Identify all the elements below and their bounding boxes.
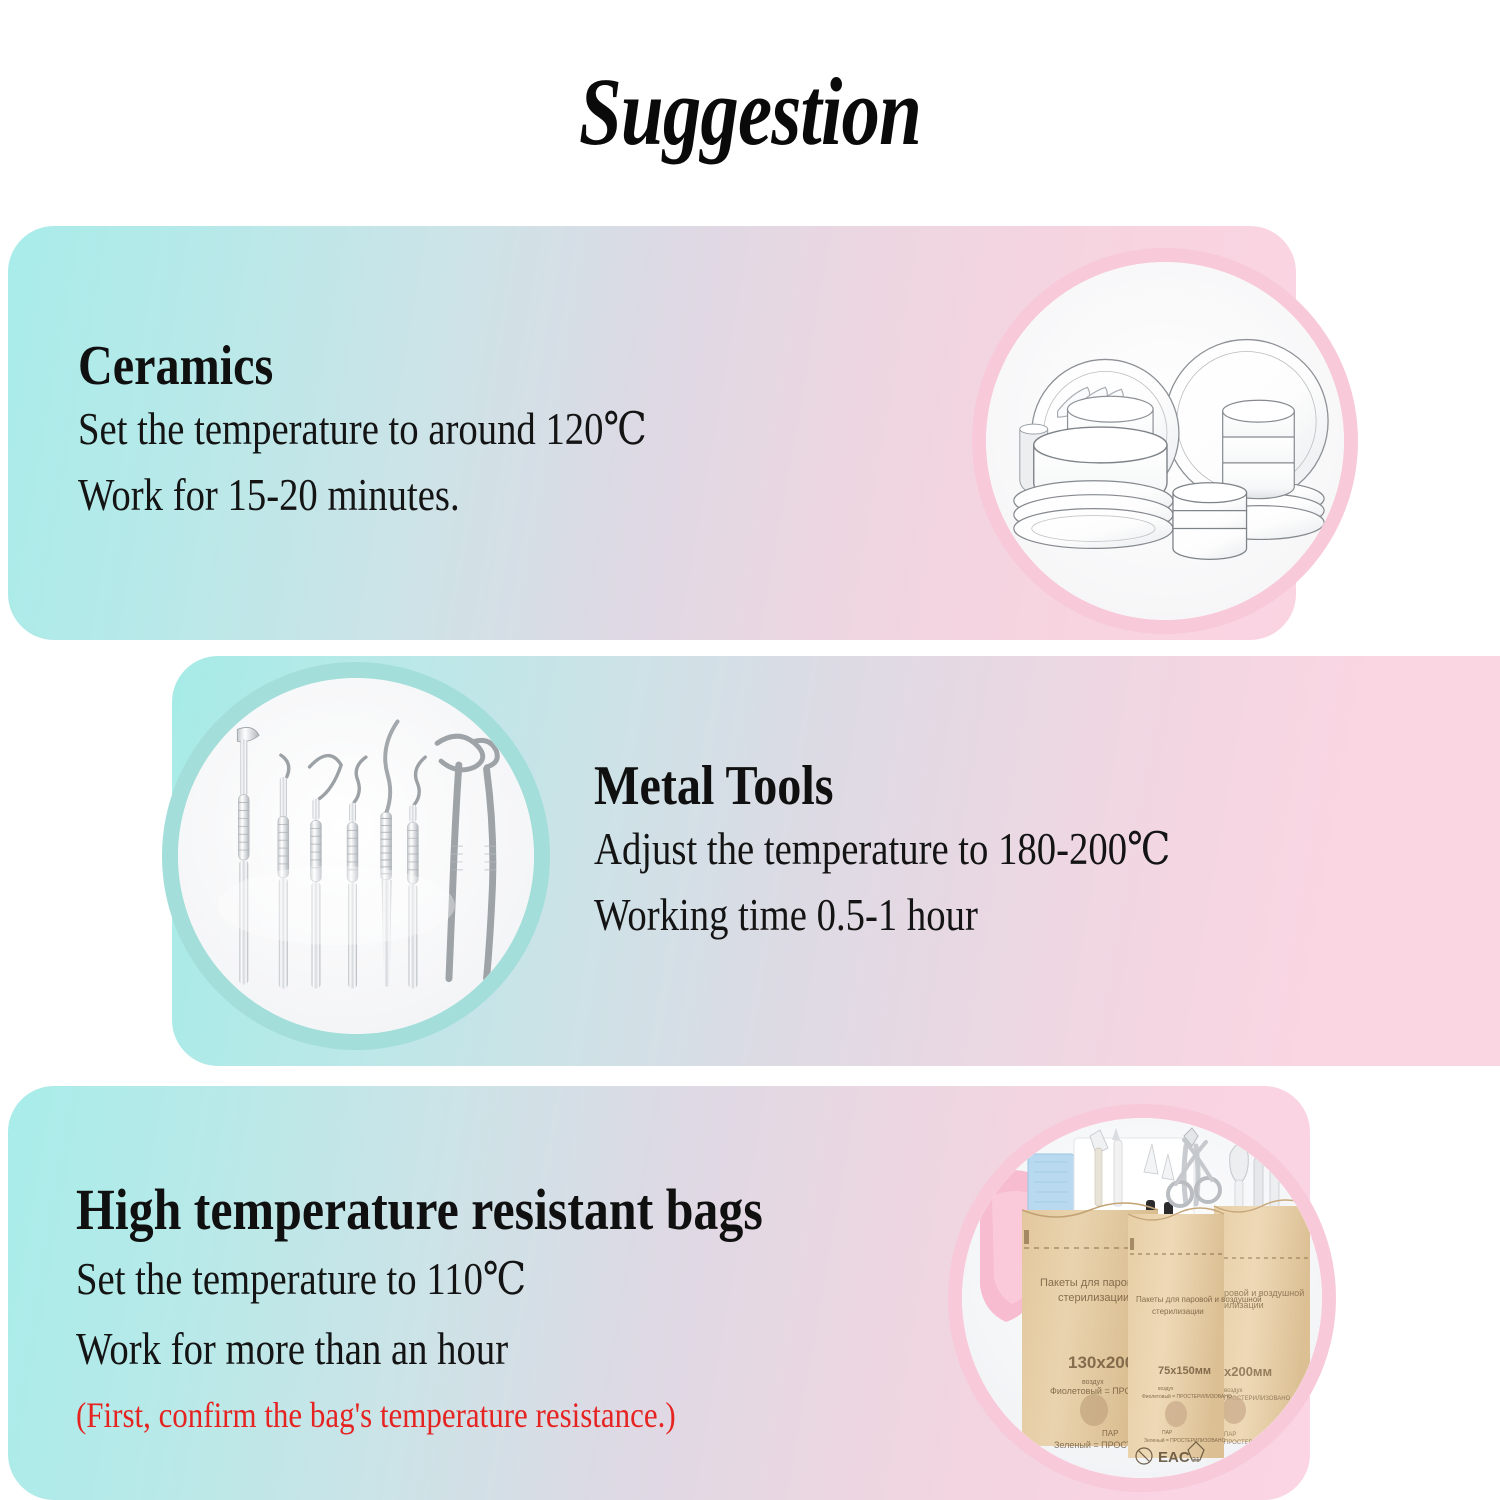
- sterilization-bags-photo: ровой и воздушной илизации х200мм воздух…: [962, 1118, 1322, 1478]
- ceramics-photo-inner: [986, 262, 1344, 620]
- ceramics-illustration-icon: [986, 262, 1344, 620]
- card-ceramics-line-2: Work for 15-20 minutes.: [78, 470, 647, 520]
- card-ceramics-text: Ceramics Set the temperature to around 1…: [78, 336, 739, 536]
- svg-text:ПАР: ПАР: [1162, 1430, 1173, 1436]
- card-high-temperature-bags-text: High temperature resistant bags Set the …: [76, 1178, 875, 1435]
- card-high-temperature-bags-line-2: Work for more than an hour: [76, 1324, 763, 1374]
- metal-dental-tools-photo: [178, 678, 534, 1034]
- page-title: Suggestion: [150, 62, 1350, 163]
- svg-text:ПАР: ПАР: [1102, 1429, 1118, 1438]
- svg-text:Зеленый = ПРОСТЕРИЛИЗОВАНО: Зеленый = ПРОСТЕРИЛИЗОВАНО: [1144, 1437, 1225, 1444]
- ceramics-dinnerware-photo: [986, 262, 1344, 620]
- card-metal-tools-heading: Metal Tools: [594, 756, 1170, 818]
- svg-text:EAC: EAC: [1158, 1449, 1190, 1466]
- svg-text:х200мм: х200мм: [1224, 1364, 1272, 1379]
- svg-text:130x200: 130x200: [1068, 1353, 1134, 1372]
- card-ceramics-line-1: Set the temperature to around 120℃: [78, 404, 647, 454]
- card-metal-tools-line-1: Adjust the temperature to 180-200℃: [594, 824, 1170, 874]
- metal-tools-photo-inner: [178, 678, 534, 1034]
- svg-text:стерилизации: стерилизации: [1058, 1292, 1129, 1304]
- svg-text:75х150мм: 75х150мм: [1158, 1365, 1211, 1377]
- sterilization-bags-illustration-icon: ровой и воздушной илизации х200мм воздух…: [962, 1118, 1322, 1478]
- svg-text:воздух: воздух: [1158, 1386, 1174, 1392]
- card-high-temperature-bags-note: (First, confirm the bag's temperature re…: [76, 1395, 763, 1435]
- card-metal-tools-text: Metal Tools Adjust the temperature to 18…: [594, 756, 1264, 956]
- svg-text:21: 21: [1192, 1457, 1200, 1464]
- svg-text:Пакеты для паровой и воздушной: Пакеты для паровой и воздушной: [1136, 1295, 1262, 1304]
- svg-text:ПАР: ПАР: [1224, 1432, 1236, 1438]
- svg-text:Фиолетовый = ПРОСТЕРИЛИЗОВАНО: Фиолетовый = ПРОСТЕРИЛИЗОВАНО: [1142, 1393, 1232, 1400]
- card-high-temperature-bags-line-1: Set the temperature to 110℃: [76, 1254, 763, 1304]
- svg-text:воздух: воздух: [1082, 1379, 1104, 1386]
- card-high-temperature-bags-heading: High temperature resistant bags: [76, 1178, 763, 1242]
- sterilization-bags-photo-inner: ровой и воздушной илизации х200мм воздух…: [962, 1118, 1322, 1478]
- card-ceramics-heading: Ceramics: [78, 336, 647, 398]
- svg-text:стерилизации: стерилизации: [1152, 1307, 1204, 1316]
- card-metal-tools-line-2: Working time 0.5-1 hour: [594, 890, 1170, 940]
- svg-text:Зеленый = ПРОСТ: Зеленый = ПРОСТ: [1054, 1440, 1133, 1450]
- suggestion-page: Suggestion Ceramics Set the temperature …: [0, 0, 1500, 1500]
- dental-tools-illustration-icon: [178, 678, 534, 1034]
